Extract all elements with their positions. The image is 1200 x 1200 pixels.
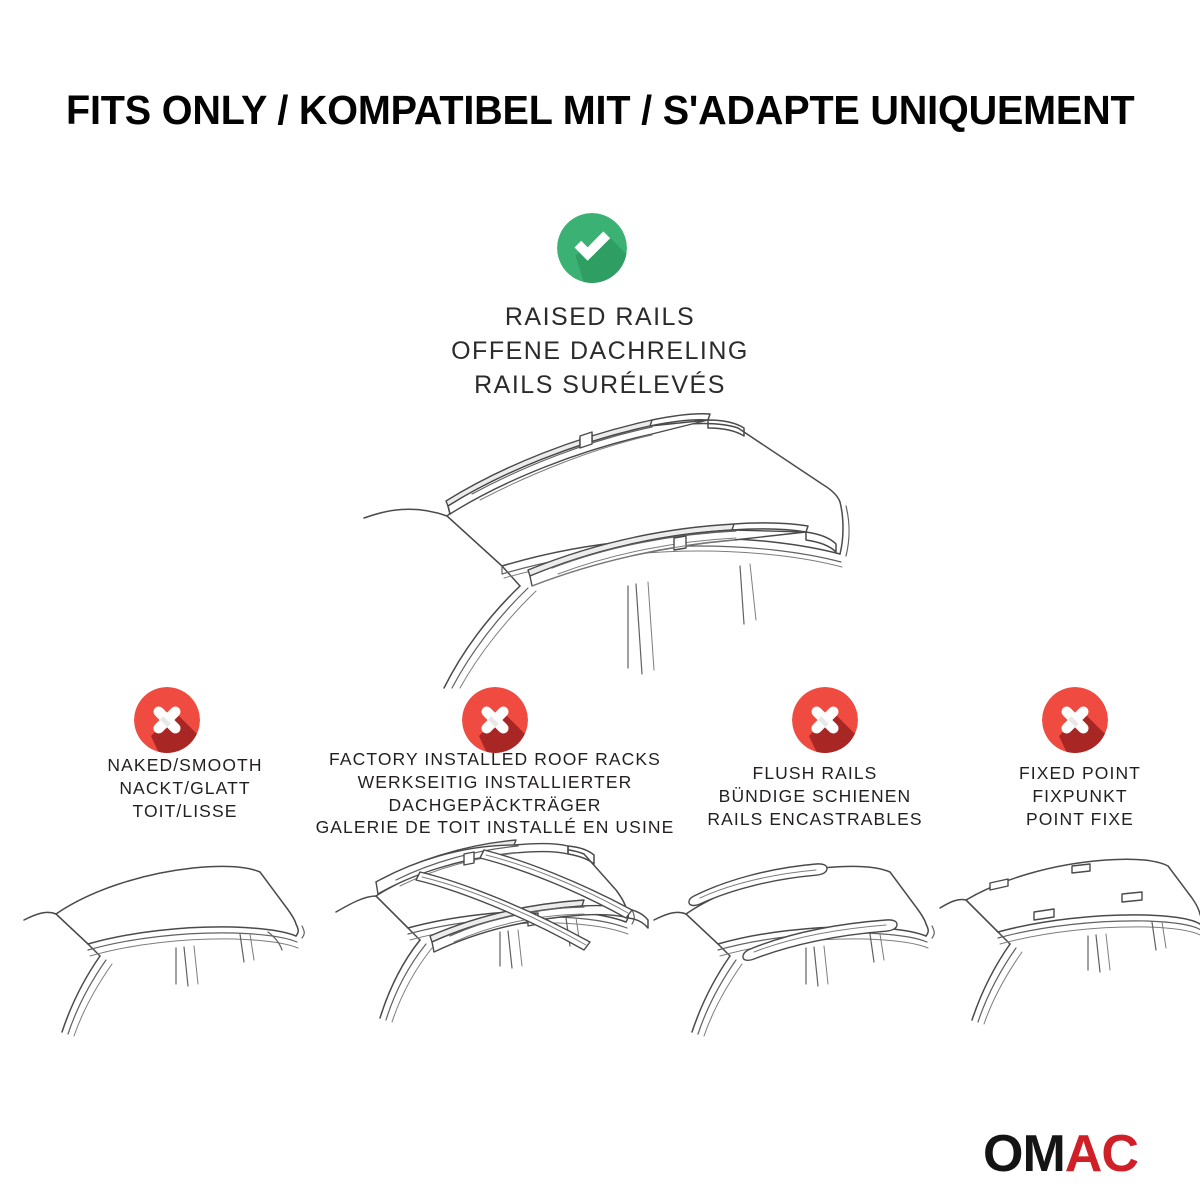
- cross-circle-icon: [1042, 687, 1108, 753]
- flush-rails-label-line-de: BÜNDIGE SCHIENEN: [660, 785, 970, 808]
- cross-circle-icon: [134, 687, 200, 753]
- fixed-point-label: FIXED POINT FIXPUNKT POINT FIXE: [960, 762, 1200, 830]
- fixed-point-label-line-fr: POINT FIXE: [960, 808, 1200, 831]
- car-roof-naked-smooth-illustration: [18, 852, 318, 1092]
- compatible-label: RAISED RAILS OFFENE DACHRELING RAILS SUR…: [300, 300, 900, 402]
- flush-rails-label-line-fr: RAILS ENCASTRABLES: [660, 808, 970, 831]
- compatible-label-line-de: OFFENE DACHRELING: [300, 334, 900, 368]
- logo-text-red: AC: [1065, 1125, 1138, 1183]
- factory-roof-rack-label-line-fr: GALERIE DE TOIT INSTALLÉ EN USINE: [295, 816, 695, 839]
- fixed-point-label-line-en: FIXED POINT: [960, 762, 1200, 785]
- factory-roof-rack-label-line-de-2: DACHGEPÄCKTRÄGER: [295, 794, 695, 817]
- fixed-point-label-line-de: FIXPUNKT: [960, 785, 1200, 808]
- flush-rails-label: FLUSH RAILS BÜNDIGE SCHIENEN RAILS ENCAS…: [660, 762, 970, 830]
- cross-circle-icon: [462, 687, 528, 753]
- cross-circle-icon: [792, 687, 858, 753]
- infographic-page: FITS ONLY / KOMPATIBEL MIT / S'ADAPTE UN…: [0, 0, 1200, 1200]
- factory-roof-rack-label-line-en: FACTORY INSTALLED ROOF RACKS: [295, 748, 695, 771]
- check-circle-icon: [557, 213, 627, 283]
- car-roof-flush-rails-illustration: [648, 852, 948, 1092]
- compatible-label-line-fr: RAILS SURÉLEVÉS: [300, 368, 900, 402]
- car-roof-fixed-point-illustration: [938, 852, 1200, 1092]
- car-roof-raised-rails-illustration: [352, 398, 852, 688]
- omac-logo: OMAC: [983, 1128, 1138, 1180]
- factory-roof-rack-label: FACTORY INSTALLED ROOF RACKS WERKSEITIG …: [295, 748, 695, 839]
- compatible-label-line-en: RAISED RAILS: [300, 300, 900, 334]
- car-roof-factory-roof-rack-illustration: [328, 838, 668, 1088]
- flush-rails-label-line-en: FLUSH RAILS: [660, 762, 970, 785]
- logo-text-dark: OM: [983, 1125, 1065, 1183]
- page-title: FITS ONLY / KOMPATIBEL MIT / S'ADAPTE UN…: [66, 88, 1108, 133]
- factory-roof-rack-label-line-de-1: WERKSEITIG INSTALLIERTER: [295, 771, 695, 794]
